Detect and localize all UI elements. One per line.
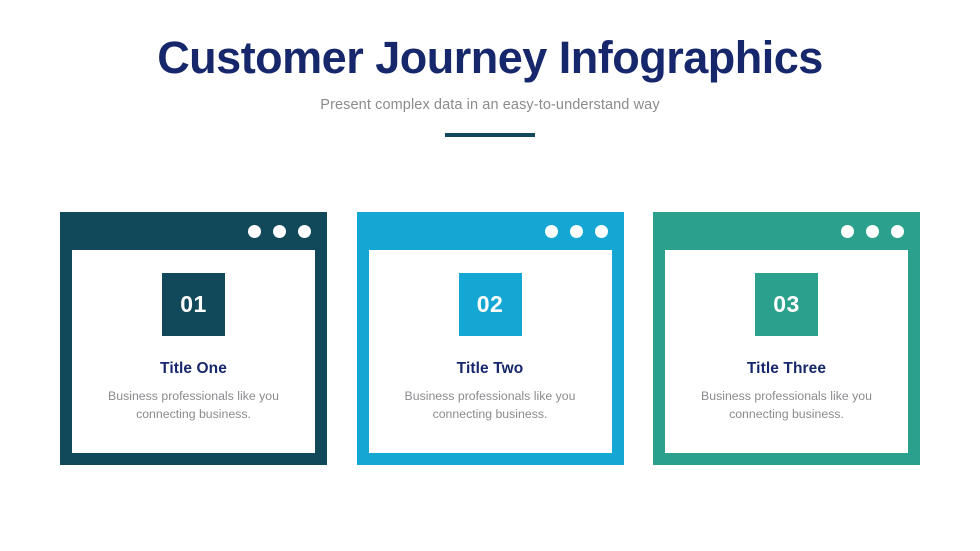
window-dot-icon[interactable] [273, 225, 286, 238]
window-dot-icon[interactable] [545, 225, 558, 238]
window-dot-icon[interactable] [891, 225, 904, 238]
card-titlebar [60, 212, 327, 250]
window-dot-icon[interactable] [841, 225, 854, 238]
card-description: Business professionals like you connecti… [687, 388, 887, 424]
card-titlebar [357, 212, 624, 250]
window-dot-icon[interactable] [248, 225, 261, 238]
window-dots-group [841, 225, 904, 238]
card-title: Title Two [457, 360, 524, 378]
card-body-wrap: 03 Title Three Business professionals li… [653, 250, 920, 465]
card-body: 01 Title One Business professionals like… [72, 250, 315, 453]
window-dots-group [248, 225, 311, 238]
card-one[interactable]: 01 Title One Business professionals like… [60, 212, 327, 465]
card-three[interactable]: 03 Title Three Business professionals li… [653, 212, 920, 465]
card-number-badge: 03 [755, 273, 818, 336]
page-title: Customer Journey Infographics [0, 34, 980, 83]
window-dot-icon[interactable] [570, 225, 583, 238]
card-title: Title One [160, 360, 227, 378]
card-number-badge: 02 [459, 273, 522, 336]
card-body: 02 Title Two Business professionals like… [369, 250, 612, 453]
window-dot-icon[interactable] [866, 225, 879, 238]
card-row: 01 Title One Business professionals like… [60, 212, 920, 465]
card-titlebar [653, 212, 920, 250]
page-subtitle: Present complex data in an easy-to-under… [0, 97, 980, 113]
window-dot-icon[interactable] [595, 225, 608, 238]
card-two[interactable]: 02 Title Two Business professionals like… [357, 212, 624, 465]
slide-header: Customer Journey Infographics Present co… [0, 34, 980, 137]
card-description: Business professionals like you connecti… [390, 388, 590, 424]
window-dot-icon[interactable] [298, 225, 311, 238]
card-title: Title Three [747, 360, 826, 378]
title-divider [445, 133, 535, 137]
card-description: Business professionals like you connecti… [94, 388, 294, 424]
card-body-wrap: 01 Title One Business professionals like… [60, 250, 327, 465]
window-dots-group [545, 225, 608, 238]
card-body-wrap: 02 Title Two Business professionals like… [357, 250, 624, 465]
infographic-slide: Customer Journey Infographics Present co… [0, 0, 980, 551]
card-body: 03 Title Three Business professionals li… [665, 250, 908, 453]
card-number-badge: 01 [162, 273, 225, 336]
